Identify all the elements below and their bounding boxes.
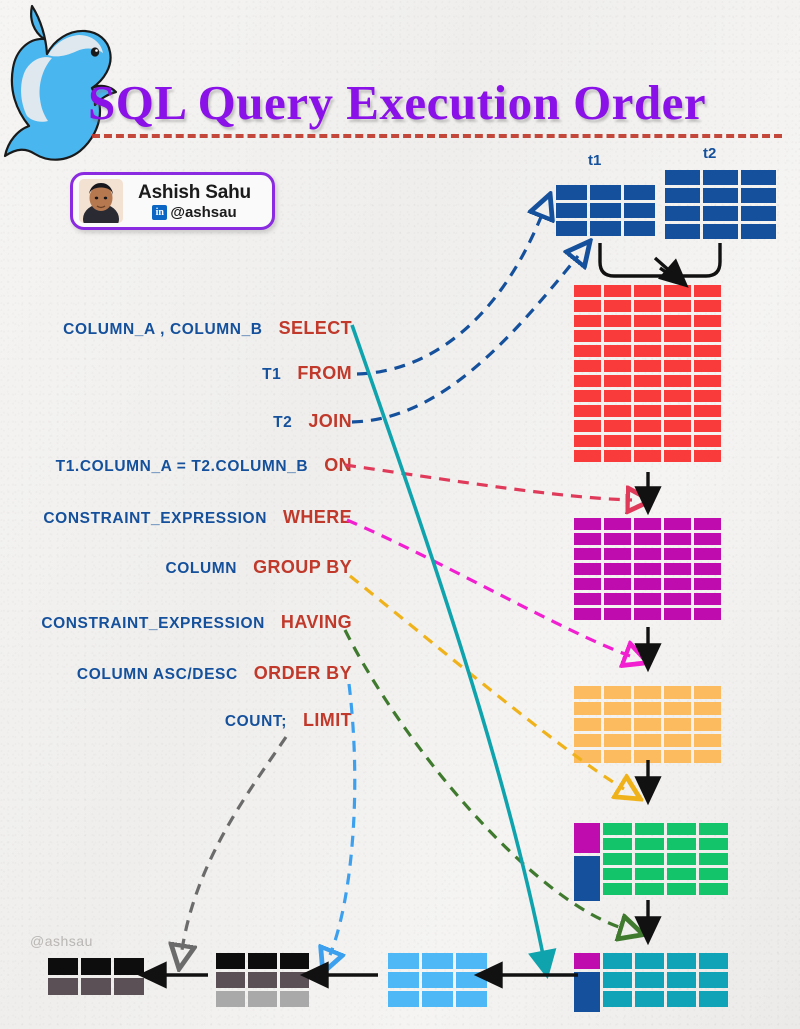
profile-badge[interactable]: Ashish Sahu in @ashsau [70, 172, 275, 230]
table-cell [574, 420, 601, 432]
table-orderby-result [603, 953, 728, 1007]
title-underline-divider [92, 134, 782, 138]
clause-value-group-by: COLUMN [165, 560, 237, 578]
wire-on [345, 465, 632, 500]
table-cell [574, 330, 601, 342]
table-cell [664, 330, 691, 342]
table-cell [574, 563, 601, 575]
table-cell [604, 315, 631, 327]
clause-row-on: T1.COLUMN_A = T2.COLUMN_BON [0, 455, 352, 476]
table-cell [574, 405, 601, 417]
clause-value-join: T2 [273, 414, 292, 432]
table-cell [694, 300, 721, 312]
table-cell [664, 345, 691, 357]
table-cell [664, 718, 691, 731]
table-orderby-key-column [574, 953, 600, 1012]
table-cell [634, 285, 661, 297]
table-cell [634, 375, 661, 387]
table-cell [604, 686, 631, 699]
table-cell [574, 972, 600, 1012]
table-cell [574, 856, 600, 901]
table-cell [635, 853, 664, 865]
table-cell [634, 300, 661, 312]
clause-keyword-from: FROM [297, 363, 352, 384]
table-cell [694, 345, 721, 357]
table-cell [604, 608, 631, 620]
table-cell [634, 518, 661, 530]
table-cell [456, 953, 487, 969]
table-cell [604, 420, 631, 432]
wire-limit [182, 737, 286, 950]
table-cell [667, 853, 696, 865]
table-cell [604, 548, 631, 560]
table-cell [604, 435, 631, 447]
table-cell [664, 360, 691, 372]
table-cell [664, 686, 691, 699]
table-cell [694, 360, 721, 372]
clause-row-select: COLUMN_A , COLUMN_BSELECT [0, 318, 352, 339]
table-having-result [603, 823, 728, 895]
table-cell [664, 315, 691, 327]
table-cell [604, 375, 631, 387]
watermark: @ashsau [30, 933, 93, 949]
table-cell [81, 958, 111, 975]
clause-keyword-group-by: GROUP BY [253, 557, 352, 578]
table-cell [694, 563, 721, 575]
table-cell [604, 450, 631, 462]
table-cell [634, 593, 661, 605]
table-cell [634, 420, 661, 432]
table-cell [664, 734, 691, 747]
table-cell [574, 953, 600, 969]
label-t2: t2 [703, 145, 716, 162]
table-cell [634, 548, 661, 560]
clause-keyword-limit: LIMIT [303, 710, 352, 731]
table-cell [456, 972, 487, 988]
table-cell [574, 450, 601, 462]
clause-row-where: CONSTRAINT_EXPRESSIONWHERE [0, 507, 352, 528]
table-cell [590, 203, 621, 218]
table-cell [456, 991, 487, 1007]
table-cell [280, 953, 309, 969]
table-cell [604, 405, 631, 417]
table-cell [604, 518, 631, 530]
table-cell [624, 221, 655, 236]
table-cell [574, 533, 601, 545]
table-cell [664, 300, 691, 312]
table-cell [694, 315, 721, 327]
table-cell [590, 185, 621, 200]
table-cell [574, 608, 601, 620]
table-having-key-column [574, 823, 600, 901]
clause-keyword-select: SELECT [279, 318, 352, 339]
table-cell [665, 170, 700, 185]
table-cell [664, 420, 691, 432]
table-cell [699, 823, 728, 835]
merge-bracket [600, 243, 720, 276]
table-final-result [48, 958, 144, 995]
table-cell [422, 953, 453, 969]
table-cell [741, 170, 776, 185]
table-cell [624, 185, 655, 200]
table-cell [635, 991, 664, 1007]
table-cell [634, 330, 661, 342]
table-cell [634, 563, 661, 575]
table-cell [703, 224, 738, 239]
table-cell [634, 608, 661, 620]
table-cell [422, 972, 453, 988]
table-cell [667, 838, 696, 850]
table-cell [699, 838, 728, 850]
table-cell [248, 991, 277, 1007]
table-cell [604, 345, 631, 357]
table-cell [248, 972, 277, 988]
table-cell [664, 375, 691, 387]
table-cell [664, 750, 691, 763]
table-cell [694, 330, 721, 342]
clause-row-from: T1FROM [0, 363, 352, 384]
table-cell [634, 686, 661, 699]
table-cell [603, 953, 632, 969]
table-cell [604, 750, 631, 763]
table-cell [604, 578, 631, 590]
table-cell [664, 578, 691, 590]
clause-keyword-order-by: ORDER BY [254, 663, 352, 684]
table-t1 [556, 185, 655, 236]
table-cell [574, 734, 601, 747]
table-cell [634, 718, 661, 731]
table-cell [741, 206, 776, 221]
clause-row-limit: COUNT;LIMIT [0, 710, 352, 731]
table-cell [694, 734, 721, 747]
table-cell [280, 972, 309, 988]
table-groupby-result [574, 686, 721, 763]
table-cell [248, 953, 277, 969]
table-cell [664, 518, 691, 530]
table-cell [603, 853, 632, 865]
table-cell [694, 518, 721, 530]
wire-from [357, 212, 543, 374]
table-cell [48, 978, 78, 995]
table-cell [635, 838, 664, 850]
table-cell [574, 390, 601, 402]
table-cell [556, 203, 587, 218]
clause-value-having: CONSTRAINT_EXPRESSION [41, 615, 265, 633]
table-cell [699, 991, 728, 1007]
table-cell [635, 953, 664, 969]
table-cell [556, 221, 587, 236]
table-cell [665, 224, 700, 239]
table-cell [603, 823, 632, 835]
table-cell [574, 285, 601, 297]
table-cell [48, 958, 78, 975]
table-t2 [665, 170, 776, 239]
table-cell [574, 718, 601, 731]
table-cell [634, 435, 661, 447]
merge-stem [660, 268, 680, 282]
arrow-merge-to-join [655, 258, 681, 281]
table-cell [603, 972, 632, 988]
table-cell [694, 375, 721, 387]
table-cell [604, 330, 631, 342]
table-cell [699, 883, 728, 895]
table-cell [699, 853, 728, 865]
table-cell [604, 593, 631, 605]
table-cell [703, 170, 738, 185]
table-cell [665, 206, 700, 221]
table-cell [604, 718, 631, 731]
table-cell [603, 991, 632, 1007]
profile-name: Ashish Sahu [138, 183, 251, 202]
clause-row-order-by: COLUMN ASC/DESCORDER BY [0, 663, 352, 684]
avatar [79, 179, 123, 223]
table-cell [699, 972, 728, 988]
table-cell [634, 390, 661, 402]
profile-handle: @ashsau [170, 205, 236, 220]
table-join-result [574, 285, 721, 462]
table-cell [216, 991, 245, 1007]
table-cell [604, 390, 631, 402]
table-cell [574, 300, 601, 312]
table-cell [694, 435, 721, 447]
wire-join [352, 256, 578, 422]
table-cell [664, 285, 691, 297]
table-cell [603, 838, 632, 850]
page-title: SQL Query Execution Order [88, 74, 788, 131]
table-cell [574, 578, 601, 590]
table-cell [635, 868, 664, 880]
table-cell [604, 563, 631, 575]
table-cell [574, 593, 601, 605]
table-cell [114, 978, 144, 995]
table-cell [694, 548, 721, 560]
wire-select [352, 325, 545, 965]
table-cell [694, 285, 721, 297]
table-cell [574, 686, 601, 699]
table-cell [114, 958, 144, 975]
label-t1: t1 [588, 152, 601, 169]
table-cell [604, 533, 631, 545]
table-where-result [574, 518, 721, 620]
table-cell [694, 608, 721, 620]
table-cell [280, 991, 309, 1007]
table-cell [574, 750, 601, 763]
table-cell [703, 188, 738, 203]
table-cell [604, 285, 631, 297]
table-cell [216, 972, 245, 988]
table-cell [664, 390, 691, 402]
table-cell [635, 823, 664, 835]
clause-keyword-on: ON [324, 455, 352, 476]
table-cell [699, 953, 728, 969]
table-cell [664, 435, 691, 447]
table-cell [574, 345, 601, 357]
table-cell [667, 991, 696, 1007]
table-select-intermediate [216, 953, 309, 1007]
table-cell [388, 991, 419, 1007]
table-cell [574, 548, 601, 560]
table-cell [574, 360, 601, 372]
clause-value-on: T1.COLUMN_A = T2.COLUMN_B [56, 458, 309, 476]
table-cell [694, 390, 721, 402]
table-cell [667, 972, 696, 988]
clause-row-having: CONSTRAINT_EXPRESSIONHAVING [0, 612, 352, 633]
table-cell [634, 405, 661, 417]
table-limit-result [388, 953, 487, 1007]
table-cell [694, 686, 721, 699]
clause-keyword-join: JOIN [308, 411, 352, 432]
table-cell [574, 518, 601, 530]
table-cell [664, 593, 691, 605]
table-cell [741, 188, 776, 203]
table-cell [624, 203, 655, 218]
clause-value-where: CONSTRAINT_EXPRESSION [43, 510, 267, 528]
table-cell [216, 953, 245, 969]
table-cell [665, 188, 700, 203]
table-cell [634, 345, 661, 357]
table-cell [667, 868, 696, 880]
table-cell [664, 608, 691, 620]
table-cell [694, 718, 721, 731]
clause-keyword-having: HAVING [281, 612, 352, 633]
table-cell [574, 375, 601, 387]
table-cell [634, 315, 661, 327]
table-cell [664, 450, 691, 462]
clause-keyword-where: WHERE [283, 507, 352, 528]
table-cell [664, 405, 691, 417]
table-cell [635, 972, 664, 988]
table-cell [694, 420, 721, 432]
table-cell [574, 702, 601, 715]
table-cell [667, 883, 696, 895]
table-cell [604, 702, 631, 715]
table-cell [634, 360, 661, 372]
linkedin-icon[interactable]: in [152, 205, 167, 220]
table-cell [741, 224, 776, 239]
table-cell [634, 450, 661, 462]
table-cell [703, 206, 738, 221]
table-cell [694, 450, 721, 462]
clause-row-group-by: COLUMNGROUP BY [0, 557, 352, 578]
table-cell [604, 734, 631, 747]
table-cell [634, 533, 661, 545]
clause-value-order-by: COLUMN ASC/DESC [77, 666, 238, 684]
table-cell [422, 991, 453, 1007]
table-cell [604, 300, 631, 312]
table-cell [694, 702, 721, 715]
table-cell [603, 883, 632, 895]
table-cell [590, 221, 621, 236]
table-cell [574, 315, 601, 327]
clause-value-from: T1 [262, 366, 281, 384]
table-cell [574, 435, 601, 447]
table-cell [81, 978, 111, 995]
table-cell [634, 750, 661, 763]
table-cell [699, 868, 728, 880]
table-cell [634, 734, 661, 747]
table-cell [604, 360, 631, 372]
table-cell [556, 185, 587, 200]
table-cell [388, 972, 419, 988]
table-cell [694, 405, 721, 417]
table-cell [664, 548, 691, 560]
table-cell [667, 953, 696, 969]
table-cell [603, 868, 632, 880]
table-cell [388, 953, 419, 969]
table-cell [667, 823, 696, 835]
table-cell [634, 702, 661, 715]
clause-value-limit: COUNT; [225, 713, 287, 731]
table-cell [664, 563, 691, 575]
clause-row-join: T2JOIN [0, 411, 352, 432]
table-cell [694, 578, 721, 590]
table-cell [694, 750, 721, 763]
table-cell [664, 533, 691, 545]
table-cell [694, 533, 721, 545]
clause-value-select: COLUMN_A , COLUMN_B [63, 321, 262, 339]
table-cell [635, 883, 664, 895]
table-cell [664, 702, 691, 715]
table-cell [634, 578, 661, 590]
table-cell [694, 593, 721, 605]
table-cell [574, 823, 600, 853]
